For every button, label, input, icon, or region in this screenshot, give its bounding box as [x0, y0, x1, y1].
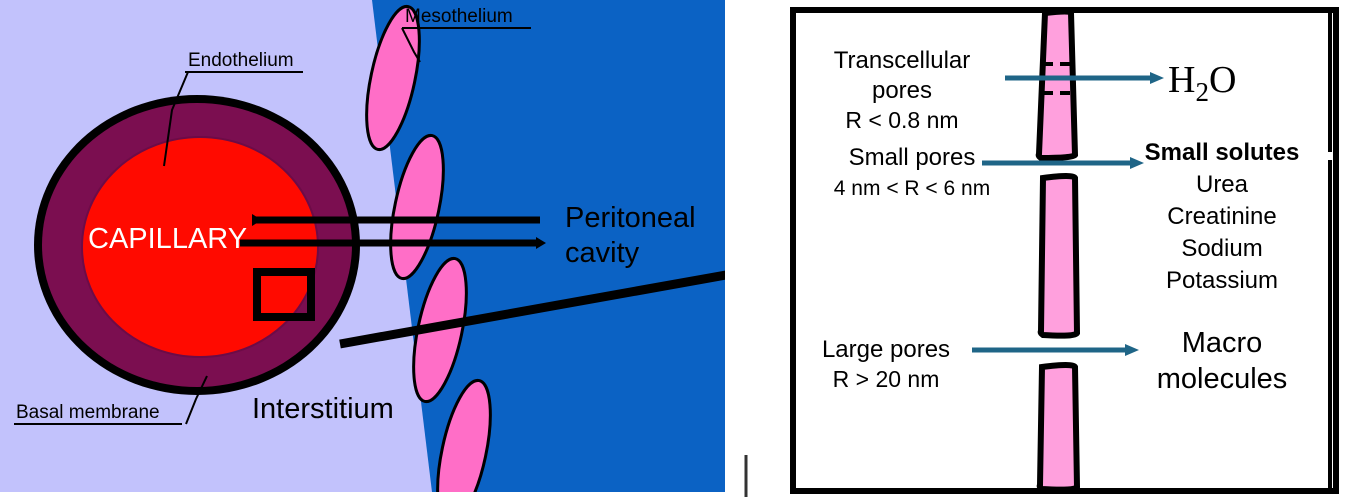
- peritoneal-cavity-label-line1: Peritoneal: [565, 202, 696, 234]
- small-solute-item: Sodium: [1181, 235, 1262, 262]
- h2o-oxygen: O: [1209, 59, 1236, 101]
- small-pores-name: Small pores: [849, 144, 976, 171]
- membrane-cell-middle: [1041, 176, 1077, 336]
- small-solute-item: Urea: [1196, 171, 1249, 198]
- figure-canvas: Endothelium Mesothelium Basal membrane I…: [0, 0, 1345, 501]
- transcellular-pores-size: R < 0.8 nm: [845, 107, 958, 133]
- membrane-cell-top: [1039, 12, 1075, 159]
- peritoneal-cavity-label-line2: cavity: [565, 237, 640, 269]
- small-solute-item: Creatinine: [1167, 203, 1276, 230]
- small-pores-size: 4 nm < R < 6 nm: [834, 177, 990, 200]
- macromolecules-title-line2: molecules: [1157, 363, 1288, 395]
- capillary-label: CAPILLARY: [88, 223, 247, 255]
- macromolecules-title-line1: Macro: [1182, 327, 1263, 359]
- basal-membrane-label: Basal membrane: [16, 402, 160, 423]
- transcellular-pores-name-line1: Transcellular: [834, 47, 971, 74]
- figure-root: Endothelium Mesothelium Basal membrane I…: [0, 0, 1345, 501]
- membrane-cell-bottom: [1040, 365, 1077, 490]
- endothelium-label: Endothelium: [188, 50, 294, 71]
- small-solute-item: Potassium: [1166, 267, 1278, 294]
- left-diagram: Endothelium Mesothelium Basal membrane I…: [0, 0, 793, 501]
- h2o-subscript: 2: [1195, 77, 1209, 107]
- small-solutes-title: Small solutes: [1145, 139, 1300, 166]
- large-pores-size: R > 20 nm: [833, 366, 940, 392]
- interstitium-label: Interstitium: [252, 393, 394, 425]
- membrane-cells: [1039, 12, 1077, 490]
- transcellular-pores-name-line2: pores: [872, 77, 932, 104]
- mesothelium-label: Mesothelium: [405, 6, 513, 27]
- large-pores-name: Large pores: [822, 336, 950, 363]
- right-detail-panel: Transcellular pores R < 0.8 nm H2O Small…: [793, 10, 1336, 491]
